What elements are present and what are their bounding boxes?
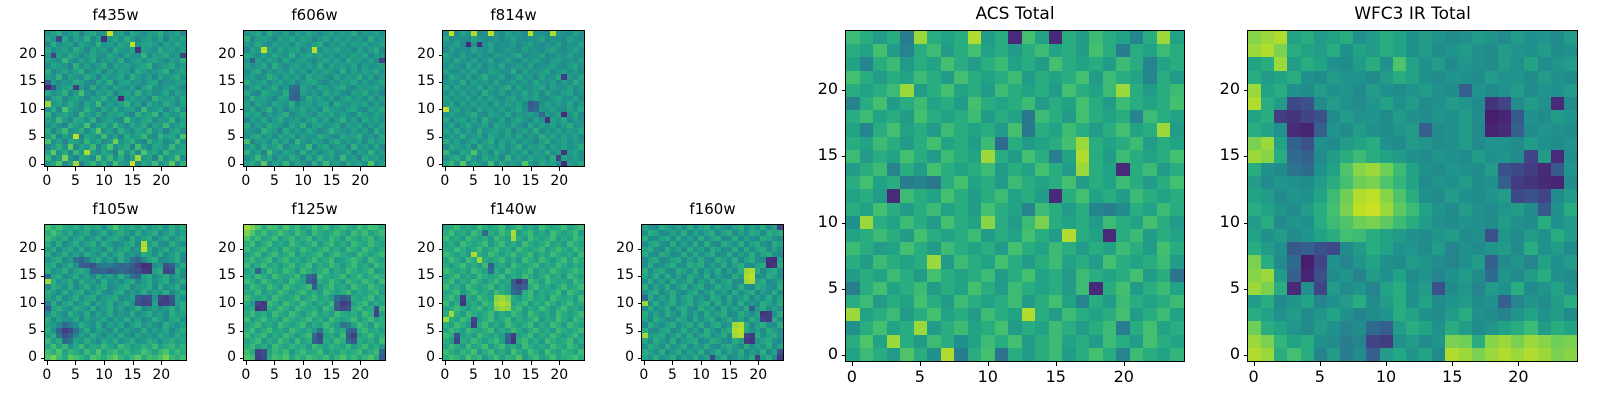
heatmap-cell: [860, 71, 874, 84]
heatmap-cell: [941, 189, 955, 202]
x-tick-mark: [559, 167, 560, 171]
heatmap-cell: [1089, 189, 1103, 202]
x-tick-mark: [75, 167, 76, 171]
y-tick-label: 15: [581, 268, 634, 282]
heatmap-cell: [968, 229, 982, 242]
y-tick-label: 10: [382, 296, 435, 310]
heatmap-cell: [954, 216, 968, 229]
heatmap-cell: [846, 150, 860, 163]
heatmap-cell: [1035, 97, 1049, 110]
y-tick-label: 20: [183, 47, 236, 61]
heatmap-cell: [1035, 110, 1049, 123]
y-tick-mark: [240, 249, 244, 250]
heatmap-cell: [887, 203, 901, 216]
heatmap-cell: [927, 203, 941, 216]
figure-canvas: f435w0510152005101520f606w05101520051015…: [0, 0, 1600, 400]
y-tick-mark: [439, 331, 443, 332]
y-tick-mark: [41, 55, 45, 56]
x-tick-mark: [246, 361, 247, 365]
heatmap-cell: [887, 44, 901, 57]
heatmap-cell: [1116, 57, 1130, 70]
heatmap-cell: [887, 150, 901, 163]
x-tick-mark: [701, 361, 702, 365]
heatmap-cell: [914, 57, 928, 70]
heatmap-cell: [1116, 163, 1130, 176]
x-tick-mark: [47, 361, 48, 365]
heatmap-cell: [914, 31, 928, 44]
y-tick-mark: [41, 109, 45, 110]
heatmap-cell: [873, 229, 887, 242]
heatmap-cell: [846, 31, 860, 44]
heatmap-cell: [1035, 189, 1049, 202]
heatmap-cell: [846, 189, 860, 202]
x-tick-mark: [303, 167, 304, 171]
heatmap-cell: [954, 229, 968, 242]
heatmap-cell: [1076, 97, 1090, 110]
heatmap-cell: [1089, 71, 1103, 84]
heatmap-cell: [927, 57, 941, 70]
heatmap-cell: [1143, 163, 1157, 176]
heatmap-cell: [860, 163, 874, 176]
heatmap-axes-acs_total: [845, 30, 1185, 362]
heatmap-cell: [1157, 189, 1171, 202]
x-tick-mark: [303, 361, 304, 365]
heatmap-acs_total: [846, 31, 1184, 361]
heatmap-cell: [1157, 110, 1171, 123]
heatmap-cell: [887, 242, 901, 255]
heatmap-cell: [1143, 71, 1157, 84]
heatmap-f140w: [443, 225, 584, 360]
heatmap-cell: [1076, 163, 1090, 176]
heatmap-cell: [1103, 229, 1117, 242]
heatmap-cell: [900, 110, 914, 123]
heatmap-cell: [941, 137, 955, 150]
heatmap-cell: [1157, 97, 1171, 110]
heatmap-cell: [1089, 31, 1103, 44]
heatmap-cell: [1157, 229, 1171, 242]
x-tick-label: 20: [136, 174, 186, 188]
y-tick-label: 10: [183, 296, 236, 310]
heatmap-cell: [981, 71, 995, 84]
heatmap-cell: [1157, 84, 1171, 97]
heatmap-cell: [1116, 123, 1130, 136]
heatmap-cell: [968, 123, 982, 136]
heatmap-cell: [578, 161, 584, 166]
y-tick-label: 15: [382, 268, 435, 282]
heatmap-cell: [1049, 203, 1063, 216]
heatmap-cell: [1076, 31, 1090, 44]
heatmap-cell: [1157, 255, 1171, 268]
heatmap-cell: [846, 229, 860, 242]
heatmap-cell: [860, 216, 874, 229]
heatmap-cell: [1170, 84, 1184, 97]
heatmap-cell: [1130, 71, 1144, 84]
panel-title-acs_total: ACS Total: [845, 6, 1185, 23]
heatmap-cell: [968, 176, 982, 189]
heatmap-cell: [1103, 44, 1117, 57]
heatmap-cell: [1035, 163, 1049, 176]
heatmap-cell: [954, 97, 968, 110]
heatmap-cell: [954, 176, 968, 189]
panel-title-f160w: f160w: [641, 202, 784, 217]
heatmap-cell: [846, 216, 860, 229]
y-tick-label: 15: [183, 74, 236, 88]
heatmap-cell: [941, 242, 955, 255]
y-tick-label: 15: [382, 74, 435, 88]
heatmap-cell: [1008, 189, 1022, 202]
heatmap-cell: [1157, 163, 1171, 176]
heatmap-cell: [1022, 229, 1036, 242]
heatmap-cell: [914, 229, 928, 242]
heatmap-cell: [1035, 84, 1049, 97]
heatmap-cell: [968, 31, 982, 44]
heatmap-cell: [1130, 97, 1144, 110]
heatmap-cell: [873, 163, 887, 176]
heatmap-cell: [1130, 163, 1144, 176]
heatmap-cell: [1116, 189, 1130, 202]
heatmap-cell: [900, 150, 914, 163]
y-tick-mark: [41, 164, 45, 165]
heatmap-cell: [1143, 216, 1157, 229]
x-tick-mark: [332, 167, 333, 171]
heatmap-cell: [995, 57, 1009, 70]
heatmap-cell: [900, 216, 914, 229]
heatmap-cell: [846, 110, 860, 123]
heatmap-cell: [981, 123, 995, 136]
y-tick-label: 10: [382, 102, 435, 116]
heatmap-cell: [968, 97, 982, 110]
y-tick-mark: [638, 358, 642, 359]
x-tick-mark: [104, 167, 105, 171]
heatmap-cell: [860, 110, 874, 123]
heatmap-cell: [981, 163, 995, 176]
heatmap-cell: [1130, 31, 1144, 44]
heatmap-cell: [995, 97, 1009, 110]
heatmap-cell: [1022, 203, 1036, 216]
heatmap-cell: [1022, 71, 1036, 84]
heatmap-cell: [873, 84, 887, 97]
heatmap-cell: [1062, 31, 1076, 44]
heatmap-cell: [1022, 31, 1036, 44]
heatmap-cell: [927, 97, 941, 110]
heatmap-cell: [846, 163, 860, 176]
heatmap-cell: [1143, 84, 1157, 97]
heatmap-cell: [1062, 123, 1076, 136]
heatmap-cell: [914, 84, 928, 97]
heatmap-cell: [860, 255, 874, 268]
heatmap-cell: [1157, 216, 1171, 229]
heatmap-cell: [941, 110, 955, 123]
heatmap-cell: [900, 203, 914, 216]
heatmap-cell: [1076, 71, 1090, 84]
heatmap-cell: [1022, 176, 1036, 189]
heatmap-cell: [846, 84, 860, 97]
heatmap-cell: [914, 110, 928, 123]
heatmap-cell: [1143, 229, 1157, 242]
heatmap-cell: [1062, 44, 1076, 57]
heatmap-cell: [1116, 137, 1130, 150]
heatmap-cell: [968, 163, 982, 176]
heatmap-cell: [1116, 203, 1130, 216]
heatmap-cell: [1143, 110, 1157, 123]
heatmap-cell: [968, 203, 982, 216]
heatmap-cell: [981, 203, 995, 216]
heatmap-axes-f435w: [44, 30, 187, 167]
heatmap-cell: [941, 203, 955, 216]
heatmap-cell: [1022, 255, 1036, 268]
heatmap-cell: [1022, 44, 1036, 57]
y-tick-mark: [439, 276, 443, 277]
heatmap-cell: [1049, 242, 1063, 255]
heatmap-cell: [1022, 84, 1036, 97]
heatmap-cell: [914, 216, 928, 229]
heatmap-cell: [887, 229, 901, 242]
y-tick-label: 15: [0, 74, 37, 88]
y-tick-mark: [439, 137, 443, 138]
y-tick-mark: [240, 164, 244, 165]
heatmap-f814w: [443, 31, 584, 166]
heatmap-cell: [941, 176, 955, 189]
x-tick-mark: [246, 167, 247, 171]
heatmap-cell: [1130, 57, 1144, 70]
heatmap-cell: [1089, 97, 1103, 110]
heatmap-cell: [954, 57, 968, 70]
heatmap-cell: [846, 57, 860, 70]
heatmap-cell: [954, 123, 968, 136]
y-tick-label: 15: [183, 268, 236, 282]
heatmap-cell: [927, 150, 941, 163]
heatmap-cell: [873, 110, 887, 123]
heatmap-cell: [1008, 229, 1022, 242]
x-tick-mark: [445, 167, 446, 171]
panel-title-f606w: f606w: [243, 8, 386, 23]
heatmap-cell: [995, 31, 1009, 44]
heatmap-cell: [1062, 84, 1076, 97]
heatmap-cell: [981, 150, 995, 163]
heatmap-cell: [981, 84, 995, 97]
heatmap-cell: [887, 97, 901, 110]
heatmap-cell: [927, 176, 941, 189]
y-tick-label: 5: [0, 129, 37, 143]
y-tick-label: 20: [0, 47, 37, 61]
heatmap-cell: [1089, 57, 1103, 70]
heatmap-cell: [873, 189, 887, 202]
heatmap-cell: [1022, 123, 1036, 136]
heatmap-cell: [900, 44, 914, 57]
heatmap-cell: [1076, 255, 1090, 268]
heatmap-cell: [1143, 150, 1157, 163]
heatmap-cell: [981, 216, 995, 229]
heatmap-cell: [1049, 137, 1063, 150]
heatmap-cell: [1103, 71, 1117, 84]
heatmap-cell: [1008, 176, 1022, 189]
heatmap-cell: [1022, 189, 1036, 202]
heatmap-cell: [1062, 110, 1076, 123]
x-tick-mark: [502, 361, 503, 365]
panel-title-f814w: f814w: [442, 8, 585, 23]
heatmap-cell: [1116, 176, 1130, 189]
heatmap-cell: [1049, 31, 1063, 44]
y-tick-mark: [240, 303, 244, 304]
heatmap-cell: [1170, 255, 1184, 268]
y-tick-label: 20: [382, 241, 435, 255]
heatmap-cell: [1035, 203, 1049, 216]
heatmap-cell: [1130, 189, 1144, 202]
y-tick-mark: [41, 303, 45, 304]
heatmap-cell: [887, 123, 901, 136]
heatmap-cell: [954, 31, 968, 44]
heatmap-cell: [1035, 71, 1049, 84]
y-tick-mark: [41, 358, 45, 359]
x-tick-mark: [274, 167, 275, 171]
heatmap-cell: [914, 189, 928, 202]
heatmap-cell: [1008, 97, 1022, 110]
heatmap-cell: [995, 163, 1009, 176]
heatmap-cell: [954, 110, 968, 123]
heatmap-cell: [1157, 31, 1171, 44]
heatmap-cell: [1143, 137, 1157, 150]
heatmap-cell: [1062, 255, 1076, 268]
heatmap-f105w: [45, 225, 186, 360]
heatmap-cell: [1103, 150, 1117, 163]
y-tick-mark: [638, 276, 642, 277]
y-tick-label: 20: [0, 241, 37, 255]
heatmap-cell: [1170, 229, 1184, 242]
heatmap-cell: [981, 57, 995, 70]
heatmap-cell: [1076, 229, 1090, 242]
heatmap-cell: [1049, 150, 1063, 163]
heatmap-cell: [1062, 97, 1076, 110]
heatmap-cell: [954, 189, 968, 202]
y-tick-label: 10: [183, 102, 236, 116]
heatmap-cell: [1143, 97, 1157, 110]
heatmap-cell: [1076, 242, 1090, 255]
y-tick-label: 10: [0, 102, 37, 116]
x-tick-mark: [332, 361, 333, 365]
heatmap-cell: [1049, 189, 1063, 202]
heatmap-cell: [900, 269, 914, 282]
heatmap-cell: [1008, 71, 1022, 84]
heatmap-cell: [1076, 44, 1090, 57]
heatmap-cell: [1049, 176, 1063, 189]
heatmap-cell: [1130, 123, 1144, 136]
heatmap-cell: [968, 242, 982, 255]
heatmap-cell: [1035, 176, 1049, 189]
heatmap-cell: [927, 84, 941, 97]
heatmap-cell: [900, 255, 914, 268]
heatmap-cell: [1049, 123, 1063, 136]
heatmap-cell: [1170, 97, 1184, 110]
heatmap-cell: [1035, 31, 1049, 44]
heatmap-cell: [914, 71, 928, 84]
heatmap-cell: [1170, 123, 1184, 136]
heatmap-cell: [1049, 229, 1063, 242]
heatmap-cell: [1062, 216, 1076, 229]
heatmap-cell: [1022, 216, 1036, 229]
heatmap-cell: [873, 97, 887, 110]
heatmap-cell: [995, 255, 1009, 268]
heatmap-cell: [1049, 110, 1063, 123]
heatmap-cell: [941, 44, 955, 57]
heatmap-cell: [1008, 255, 1022, 268]
x-tick-mark: [274, 361, 275, 365]
heatmap-cell: [1116, 255, 1130, 268]
heatmap-cell: [860, 31, 874, 44]
heatmap-cell: [1089, 44, 1103, 57]
heatmap-cell: [1116, 216, 1130, 229]
heatmap-cell: [1170, 44, 1184, 57]
heatmap-cell: [1008, 242, 1022, 255]
heatmap-cell: [914, 97, 928, 110]
heatmap-cell: [1008, 44, 1022, 57]
heatmap-cell: [954, 71, 968, 84]
heatmap-cell: [927, 189, 941, 202]
y-tick-mark: [41, 331, 45, 332]
heatmap-cell: [1170, 137, 1184, 150]
heatmap-cell: [860, 242, 874, 255]
y-tick-mark: [638, 249, 642, 250]
heatmap-cell: [1022, 150, 1036, 163]
heatmap-cell: [1130, 203, 1144, 216]
heatmap-cell: [941, 269, 955, 282]
heatmap-cell: [1062, 71, 1076, 84]
heatmap-cell: [1170, 110, 1184, 123]
y-tick-label: 5: [581, 323, 634, 337]
heatmap-cell: [954, 84, 968, 97]
heatmap-cell: [1143, 31, 1157, 44]
heatmap-cell: [954, 150, 968, 163]
x-tick-mark: [473, 361, 474, 365]
heatmap-cell: [846, 137, 860, 150]
heatmap-cell: [941, 163, 955, 176]
heatmap-cell: [900, 57, 914, 70]
heatmap-cell: [1130, 242, 1144, 255]
heatmap-cell: [1022, 110, 1036, 123]
heatmap-cell: [1130, 229, 1144, 242]
heatmap-cell: [1089, 203, 1103, 216]
heatmap-cell: [873, 176, 887, 189]
heatmap-axes-f606w: [243, 30, 386, 167]
heatmap-cell: [1143, 189, 1157, 202]
y-tick-label: 15: [0, 268, 37, 282]
heatmap-cell: [1062, 242, 1076, 255]
heatmap-cell: [954, 269, 968, 282]
heatmap-cell: [873, 71, 887, 84]
heatmap-cell: [968, 255, 982, 268]
heatmap-cell: [1049, 84, 1063, 97]
heatmap-cell: [914, 176, 928, 189]
heatmap-cell: [873, 57, 887, 70]
heatmap-cell: [954, 44, 968, 57]
heatmap-cell: [1049, 163, 1063, 176]
x-tick-mark: [730, 361, 731, 365]
heatmap-cell: [1076, 110, 1090, 123]
heatmap-cell: [1143, 123, 1157, 136]
y-tick-mark: [439, 82, 443, 83]
heatmap-cell: [1089, 255, 1103, 268]
y-tick-mark: [240, 276, 244, 277]
heatmap-cell: [846, 123, 860, 136]
y-tick-mark: [240, 358, 244, 359]
heatmap-cell: [1170, 150, 1184, 163]
heatmap-cell: [860, 84, 874, 97]
heatmap-cell: [1116, 31, 1130, 44]
heatmap-cell: [887, 137, 901, 150]
heatmap-cell: [1103, 137, 1117, 150]
heatmap-cell: [1103, 110, 1117, 123]
y-tick-mark: [240, 82, 244, 83]
heatmap-cell: [860, 57, 874, 70]
